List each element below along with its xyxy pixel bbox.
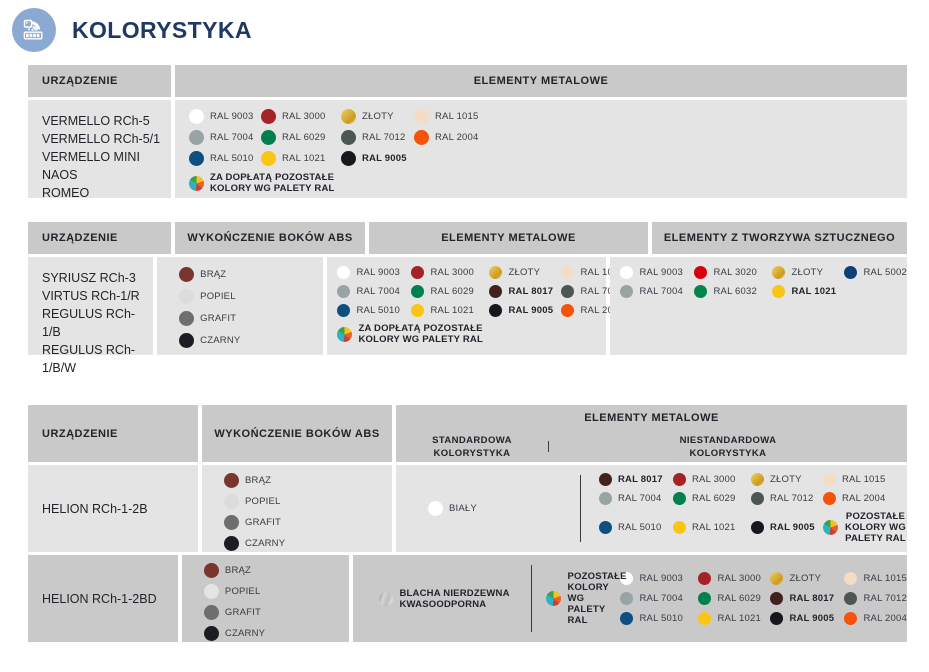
td-plastic-swatches: RAL 9003 RAL 3020 ZŁOTY RAL 5002 RAL 700… (610, 257, 907, 355)
swatch-ral-1021: RAL 1021 (261, 151, 341, 166)
swatch-czarny: CZARNY (179, 333, 323, 348)
swatch-label: CZARNY (225, 628, 265, 639)
td-metal-swatches: RAL 9003 RAL 3000 ZŁOTY RAL 1015 RAL 700… (175, 100, 907, 198)
swatch-dot (189, 109, 204, 124)
swatch-dot (204, 584, 219, 599)
swatch-dot (561, 266, 574, 279)
swatch-zloty: ZŁOTY (489, 266, 561, 279)
th-subheaders: STANDARDOWA KOLORYSTYKA NIESTANDARDOWA K… (396, 431, 907, 462)
swatch-dot (770, 592, 783, 605)
swatch-label: RAL 7012 (770, 493, 814, 504)
swatch-label: POZOSTAŁE KOLORY WG PALETY RAL (844, 511, 907, 544)
th-device-label: URZĄDZENIE (42, 428, 118, 440)
swatch-zloty: ZŁOTY (341, 109, 414, 124)
swatch-dot (673, 521, 686, 534)
device-item: ROMEO (42, 184, 171, 202)
swatch-czarny: CZARNY (224, 536, 392, 551)
swatch-label: RAL 8017 (789, 593, 834, 604)
swatch-label: GRAFIT (200, 313, 236, 324)
swatch-dot (341, 130, 356, 145)
swatch-label-line2: KOLORY WG PALETY RAL (210, 183, 335, 194)
device-item: VERMELLO RCh-5/1 (42, 130, 171, 148)
swatch-ral-1021: RAL 1021 (772, 285, 844, 298)
swatch-ral-8017: RAL 8017 (770, 592, 844, 605)
swatch-label: RAL 7004 (639, 286, 683, 297)
stainless-steel-swatch-icon (379, 592, 393, 606)
device-item: VERMELLO RCh-5 (42, 112, 171, 130)
swatch-ral-6029: RAL 6029 (673, 492, 751, 505)
table-3-header-row: URZĄDZENIE WYKOŃCZENIE BOKÓW ABS ELEMENT… (28, 405, 907, 462)
table-2-header-row: URZĄDZENIE WYKOŃCZENIE BOKÓW ABS ELEMENT… (28, 222, 907, 254)
swatch-label: RAL 1015 (435, 111, 479, 122)
th-metal-elements-label: ELEMENTY METALOWE (474, 75, 609, 87)
td-device: HELION RCh-1-2B (28, 465, 198, 552)
swatch-remaining-ral-palette: POZOSTAŁE KOLORY WG PALETY RAL (546, 571, 620, 626)
swatch-zloty: ZŁOTY (770, 572, 844, 585)
swatch-dot (411, 304, 424, 317)
swatch-dot (673, 473, 686, 486)
swatch-label: ZŁOTY (770, 474, 802, 485)
swatch-label-line2: KOLORY WG PALETY RAL (358, 334, 483, 345)
table-2-syriusz: URZĄDZENIE WYKOŃCZENIE BOKÓW ABS ELEMENT… (28, 222, 907, 355)
swatch-dot (599, 492, 612, 505)
swatch-dot (337, 285, 350, 298)
swatch-dot (620, 592, 633, 605)
swatch-ral-1015: RAL 1015 (823, 473, 907, 486)
page-title: KOLORYSTYKA (72, 17, 252, 44)
table-3-helion: URZĄDZENIE WYKOŃCZENIE BOKÓW ABS ELEMENT… (28, 405, 907, 642)
swatch-label: RAL 1021 (791, 286, 836, 297)
td-abs-swatches: BRĄZ POPIEL GRAFIT CZARNY (157, 257, 323, 355)
ral-palette-icon (337, 327, 352, 342)
swatch-label-line2: KOLORY WG PALETY RAL (845, 522, 906, 544)
swatch-label: RAL 5010 (356, 305, 400, 316)
swatch-label: RAL 1021 (717, 613, 761, 624)
td-metal-swatches: RAL 9003 RAL 3000 ZŁOTY RAL 1015 RAL 700… (327, 257, 606, 355)
swatch-label: RAL 7004 (210, 132, 254, 143)
swatch-ral-5010: RAL 5010 (620, 612, 698, 625)
swatch-ral-9003: RAL 9003 (189, 109, 261, 124)
th-metal-elements: ELEMENTY METALOWE (369, 222, 648, 254)
swatch-dot (844, 266, 857, 279)
swatch-dot (224, 536, 239, 551)
td-device-list: VERMELLO RCh-5 VERMELLO RCh-5/1 VERMELLO… (28, 100, 171, 198)
swatch-label: POPIEL (225, 586, 261, 597)
swatch-dot (844, 592, 857, 605)
swatch-ral-3000: RAL 3000 (698, 572, 770, 585)
swatch-label: ZŁOTY (508, 267, 540, 278)
swatch-zloty: ZŁOTY (751, 473, 823, 486)
nonstandard-color-cell: RAL 9003 RAL 3000 ZŁOTY RAL 1015 (532, 555, 907, 642)
swatch-extra-ral-palette: ZA DOPŁATĄ POZOSTAŁE KOLORY WG PALETY RA… (337, 323, 489, 345)
swatch-dot (823, 473, 836, 486)
swatch-ral-7004: RAL 7004 (620, 285, 694, 298)
swatch-label: RAL 9005 (770, 522, 815, 533)
abs-swatch-list-3a: BRĄZ POPIEL GRAFIT CZARNY (202, 465, 392, 561)
swatch-blacha-nierdzewna: BLACHA NIERDZEWNA KWASOODPORNA (379, 588, 509, 610)
swatch-dot (751, 492, 764, 505)
swatch-label: RAL 3000 (430, 267, 474, 278)
swatch-dot (261, 109, 276, 124)
th-metal-elements: ELEMENTY METALOWE STANDARDOWA KOLORYSTYK… (396, 405, 907, 462)
swatch-dot (844, 572, 857, 585)
ral-palette-icon (823, 520, 838, 535)
swatch-ral-6029: RAL 6029 (261, 130, 341, 145)
swatch-dot (341, 151, 356, 166)
th-metal-title: ELEMENTY METALOWE (396, 405, 907, 431)
swatch-label: RAL 6029 (282, 132, 326, 143)
ral-palette-icon (189, 176, 204, 191)
swatch-dot (698, 612, 711, 625)
swatch-ral-9003: RAL 9003 (620, 266, 694, 279)
device-item: VERMELLO MINI (42, 148, 171, 166)
swatch-dot (411, 285, 424, 298)
swatch-label: RAL 6029 (692, 493, 736, 504)
swatch-label-line2: KOLORY WG (567, 582, 608, 604)
swatch-ral-8017: RAL 8017 (599, 473, 673, 486)
swatch-dot (694, 266, 707, 279)
swatch-grid-nonstandard-3b: RAL 9003 RAL 3000 ZŁOTY RAL 1015 (532, 571, 907, 626)
swatch-dot (599, 521, 612, 534)
swatch-dot (189, 130, 204, 145)
swatch-braz: BRĄZ (224, 473, 392, 488)
swatch-label: ZŁOTY (362, 111, 394, 122)
swatch-dot (224, 515, 239, 530)
th-abs-finish: WYKOŃCZENIE BOKÓW ABS (202, 405, 392, 462)
swatch-label: RAL 5002 (863, 267, 907, 278)
swatch-dot (844, 612, 857, 625)
nonstandard-color-cell: RAL 8017 RAL 3000 ZŁOTY RAL 1015 (581, 465, 907, 552)
swatch-label: ZŁOTY (789, 573, 821, 584)
swatch-label: BLACHA NIERDZEWNA KWASOODPORNA (399, 588, 509, 610)
th-device: URZĄDZENIE (28, 65, 171, 97)
swatch-label: RAL 9003 (210, 111, 254, 122)
label-line1: STANDARDOWA (432, 435, 512, 446)
device-name: HELION RCh-1-2BD (28, 555, 178, 642)
table-1-body-row: VERMELLO RCh-5 VERMELLO RCh-5/1 VERMELLO… (28, 100, 907, 198)
swatch-label: RAL 3000 (717, 573, 761, 584)
swatch-dot (489, 304, 502, 317)
swatch-dot (620, 612, 633, 625)
swatch-label: RAL 6032 (713, 286, 757, 297)
swatch-label: RAL 8017 (618, 474, 663, 485)
swatch-dot (337, 266, 350, 279)
th-device-label: URZĄDZENIE (42, 75, 118, 87)
swatch-dot (204, 563, 219, 578)
swatch-label: RAL 5010 (639, 613, 683, 624)
swatch-bialy: BIAŁY (428, 501, 477, 516)
th-metal-stack: ELEMENTY METALOWE STANDARDOWA KOLORYSTYK… (396, 405, 907, 462)
swatch-grafit: GRAFIT (224, 515, 392, 530)
swatch-ral-7004: RAL 7004 (337, 285, 411, 298)
device-list-2: SYRIUSZ RCh-3 VIRTUS RCh-1/R REGULUS RCh… (28, 257, 153, 389)
swatch-ral-5010: RAL 5010 (599, 511, 673, 544)
device-item: NAOS (42, 166, 171, 184)
swatch-dot (204, 626, 219, 641)
swatch-label: GRAFIT (245, 517, 281, 528)
swatch-label-line3: PALETY RAL (567, 604, 605, 626)
swatch-dot (341, 109, 356, 124)
abs-swatch-list-2: BRĄZ POPIEL GRAFIT CZARNY (157, 257, 323, 358)
swatch-label: RAL 9003 (356, 267, 400, 278)
swatch-ral-1021: RAL 1021 (698, 612, 770, 625)
table-2-body-row: SYRIUSZ RCh-3 VIRTUS RCh-1/R REGULUS RCh… (28, 257, 907, 355)
swatch-dot (620, 285, 633, 298)
swatch-ral-1021: RAL 1021 (411, 304, 489, 317)
device-item: REGULUS RCh-1/B (42, 305, 153, 341)
td-abs-swatches: BRĄZ POPIEL GRAFIT CZARNY (202, 465, 392, 552)
swatch-label: RAL 6029 (717, 593, 761, 604)
swatch-ral-5010: RAL 5010 (189, 151, 261, 166)
swatch-label: RAL 3020 (713, 267, 757, 278)
th-metal-elements: ELEMENTY METALOWE (175, 65, 907, 97)
swatch-label: RAL 1021 (692, 522, 736, 533)
swatch-braz: BRĄZ (204, 563, 350, 578)
device-item: REGULUS RCh-1/B/W (42, 341, 153, 377)
label-line1: NIESTANDARDOWA (680, 435, 777, 446)
swatch-ral-1015: RAL 1015 (844, 572, 907, 585)
swatch-label: RAL 7004 (356, 286, 400, 297)
swatch-label: BRĄZ (200, 269, 226, 280)
swatch-label: RAL 7012 (863, 593, 907, 604)
swatch-braz: BRĄZ (179, 267, 323, 282)
swatch-dot (772, 266, 785, 279)
td-device: HELION RCh-1-2BD (28, 555, 178, 642)
swatch-dot (414, 109, 429, 124)
th-nonstandard-colors-label: NIESTANDARDOWA KOLORYSTYKA (680, 434, 777, 460)
swatch-zloty: ZŁOTY (772, 266, 844, 279)
label-line2: KOLORYSTYKA (690, 448, 767, 459)
swatch-dot (204, 605, 219, 620)
swatch-czarny: CZARNY (204, 626, 350, 641)
swatch-label: BRĄZ (225, 565, 251, 576)
swatch-label: RAL 1015 (863, 573, 907, 584)
swatch-dot (337, 304, 350, 317)
swatch-ral-7012: RAL 7012 (751, 492, 823, 505)
swatch-dot (179, 333, 194, 348)
swatch-ral-7012: RAL 7012 (341, 130, 414, 145)
swatch-label: RAL 9003 (639, 573, 683, 584)
th-standard-colors-label: STANDARDOWA KOLORYSTYKA (432, 434, 512, 460)
swatch-dot (414, 130, 429, 145)
swatch-dot (489, 266, 502, 279)
swatch-label: BRĄZ (245, 475, 271, 486)
swatch-ral-1015: RAL 1015 (414, 109, 504, 124)
swatch-dot (620, 266, 633, 279)
standard-color-cell: BIAŁY (396, 465, 580, 552)
swatch-ral-6032: RAL 6032 (694, 285, 772, 298)
swatch-dot (751, 473, 764, 486)
swatch-label: RAL 1015 (842, 474, 886, 485)
swatch-label: GRAFIT (225, 607, 261, 618)
swatch-label: ZA DOPŁATĄ POZOSTAŁE KOLORY WG PALETY RA… (358, 323, 483, 345)
swatch-ral-5010: RAL 5010 (337, 304, 411, 317)
swatch-ral-9005: RAL 9005 (489, 304, 561, 317)
swatch-popiel: POPIEL (204, 584, 350, 599)
swatch-dot (770, 612, 783, 625)
split-standard-nonstandard: BIAŁY RAL 8017 RAL 3000 (396, 465, 907, 552)
swatch-grafit: GRAFIT (179, 311, 323, 326)
swatch-remaining-ral-palette: POZOSTAŁE KOLORY WG PALETY RAL (823, 511, 907, 544)
swatch-label-line1: ZA DOPŁATĄ POZOSTAŁE (210, 172, 334, 183)
swatch-label: CZARNY (245, 538, 285, 549)
swatch-label: RAL 1021 (430, 305, 474, 316)
swatch-dot (770, 572, 783, 585)
swatch-dot (772, 285, 785, 298)
label-line2: KOLORYSTYKA (434, 448, 511, 459)
swatch-dot (179, 289, 194, 304)
swatch-dot (261, 130, 276, 145)
table-3-row-helion-2b: HELION RCh-1-2B BRĄZ POPIEL GRAFIT C (28, 465, 907, 552)
swatch-label: RAL 7012 (362, 132, 406, 143)
swatch-extra-ral-palette: ZA DOPŁATĄ POZOSTAŁE KOLORY WG PALETY RA… (189, 172, 341, 194)
td-abs-swatches: BRĄZ POPIEL GRAFIT CZARNY (182, 555, 350, 642)
th-plastic-elements-label: ELEMENTY Z TWORZYWA SZTUCZNEGO (664, 232, 895, 244)
swatch-ral-2004: RAL 2004 (823, 492, 907, 505)
swatch-label: RAL 2004 (863, 613, 907, 624)
th-metal-elements-label: ELEMENTY METALOWE (441, 232, 576, 244)
swatch-label: ZŁOTY (791, 267, 823, 278)
swatch-ral-7012: RAL 7012 (844, 592, 907, 605)
th-abs-finish-label: WYKOŃCZENIE BOKÓW ABS (214, 428, 379, 440)
swatch-ral-3000: RAL 3000 (673, 473, 751, 486)
ral-palette-icon (546, 591, 561, 606)
device-item: SYRIUSZ RCh-3 (42, 269, 153, 287)
th-device: URZĄDZENIE (28, 405, 198, 462)
swatch-label: RAL 8017 (508, 286, 553, 297)
swatch-dot (673, 492, 686, 505)
th-device: URZĄDZENIE (28, 222, 171, 254)
device-item: VIRTUS RCh-1/R (42, 287, 153, 305)
td-metal-colors: BIAŁY RAL 8017 RAL 3000 (396, 465, 907, 552)
swatch-grid-plastic-2: RAL 9003 RAL 3020 ZŁOTY RAL 5002 RAL 700… (610, 257, 907, 308)
color-palette-fan-icon (12, 8, 56, 52)
swatch-dot (179, 311, 194, 326)
swatch-label: RAL 6029 (430, 286, 474, 297)
device-list-1: VERMELLO RCh-5 VERMELLO RCh-5/1 VERMELLO… (28, 100, 171, 214)
swatch-dot (489, 285, 502, 298)
swatch-grid-metal-2: RAL 9003 RAL 3000 ZŁOTY RAL 1015 RAL 700… (327, 257, 606, 355)
swatch-dot (561, 304, 574, 317)
swatch-ral-9005: RAL 9005 (341, 151, 414, 166)
swatch-label: RAL 5010 (618, 522, 662, 533)
swatch-label: RAL 9005 (508, 305, 553, 316)
swatch-ral-7004: RAL 7004 (620, 592, 698, 605)
table-1-header-row: URZĄDZENIE ELEMENTY METALOWE (28, 65, 907, 97)
swatch-ral-6029: RAL 6029 (698, 592, 770, 605)
swatch-dot (411, 266, 424, 279)
swatch-grid-metal-1: RAL 9003 RAL 3000 ZŁOTY RAL 1015 RAL 700… (175, 100, 907, 204)
swatch-dot (751, 521, 764, 534)
swatch-label: BIAŁY (449, 503, 477, 514)
swatch-dot (698, 592, 711, 605)
swatch-ral-3020: RAL 3020 (694, 266, 772, 279)
th-abs-finish-label: WYKOŃCZENIE BOKÓW ABS (187, 232, 352, 244)
th-abs-finish: WYKOŃCZENIE BOKÓW ABS (175, 222, 365, 254)
swatch-label: POPIEL (245, 496, 281, 507)
swatch-label: CZARNY (200, 335, 240, 346)
swatch-ral-8017: RAL 8017 (489, 285, 561, 298)
swatch-dot (823, 492, 836, 505)
swatch-popiel: POPIEL (224, 494, 392, 509)
swatch-ral-9005: RAL 9005 (751, 511, 823, 544)
swatch-label: RAL 9005 (789, 613, 834, 624)
table-3-row-helion-2bd: HELION RCh-1-2BD BRĄZ POPIEL GRAFIT (28, 555, 907, 642)
page-header: KOLORYSTYKA (0, 0, 929, 52)
swatch-label: RAL 2004 (842, 493, 886, 504)
th-nonstandard-colors: NIESTANDARDOWA KOLORYSTYKA (549, 431, 907, 462)
swatch-label: RAL 7004 (639, 593, 683, 604)
swatch-ral-2004: RAL 2004 (844, 612, 907, 625)
swatch-ral-3000: RAL 3000 (411, 266, 489, 279)
swatch-label-line1: BLACHA NIERDZEWNA (399, 588, 509, 599)
swatch-dot (261, 151, 276, 166)
swatch-label-line1: ZA DOPŁATĄ POZOSTAŁE (358, 323, 482, 334)
swatch-label: RAL 9005 (362, 153, 407, 164)
swatch-ral-1021: RAL 1021 (673, 511, 751, 544)
swatch-dot (698, 572, 711, 585)
swatch-ral-9003: RAL 9003 (620, 572, 698, 585)
swatch-ral-5002: RAL 5002 (844, 266, 907, 279)
swatch-dot (224, 473, 239, 488)
swatch-label: POPIEL (200, 291, 236, 302)
device-name: HELION RCh-1-2B (28, 465, 198, 552)
swatch-dot (599, 473, 612, 486)
swatch-ral-6029: RAL 6029 (411, 285, 489, 298)
swatch-label: RAL 1021 (282, 153, 326, 164)
swatch-label: RAL 3000 (282, 111, 326, 122)
swatch-grid-spacer (414, 151, 504, 166)
swatch-ral-3000: RAL 3000 (261, 109, 341, 124)
swatch-label: ZA DOPŁATĄ POZOSTAŁE KOLORY WG PALETY RA… (210, 172, 335, 194)
standard-color-cell: BLACHA NIERDZEWNA KWASOODPORNA (353, 555, 531, 642)
swatch-label: RAL 2004 (435, 132, 479, 143)
th-device-label: URZĄDZENIE (42, 232, 118, 244)
swatch-ral-9005: RAL 9005 (770, 612, 844, 625)
swatch-label-line2: KWASOODPORNA (399, 599, 486, 610)
swatch-ral-7004: RAL 7004 (189, 130, 261, 145)
swatch-label: RAL 7004 (618, 493, 662, 504)
swatch-dot (224, 494, 239, 509)
swatch-label: POZOSTAŁE KOLORY WG PALETY RAL (567, 571, 626, 626)
abs-swatch-list-3b: BRĄZ POPIEL GRAFIT CZARNY (182, 555, 350, 651)
swatch-label: RAL 9003 (639, 267, 683, 278)
swatch-label-line1: POZOSTAŁE (567, 571, 626, 582)
swatch-dot (189, 151, 204, 166)
swatch-dot (428, 501, 443, 516)
table-1-vermello: URZĄDZENIE ELEMENTY METALOWE VERMELLO RC… (28, 65, 907, 198)
th-metal-elements-label: ELEMENTY METALOWE (584, 412, 719, 424)
swatch-label: RAL 3000 (692, 474, 736, 485)
swatch-popiel: POPIEL (179, 289, 323, 304)
td-metal-colors: BLACHA NIERDZEWNA KWASOODPORNA RAL 9003 (353, 555, 907, 642)
swatch-dot (561, 285, 574, 298)
swatch-ral-7004: RAL 7004 (599, 492, 673, 505)
swatch-grafit: GRAFIT (204, 605, 350, 620)
swatch-label: RAL 5010 (210, 153, 254, 164)
th-plastic-elements: ELEMENTY Z TWORZYWA SZTUCZNEGO (652, 222, 907, 254)
swatch-grid-nonstandard-3a: RAL 8017 RAL 3000 ZŁOTY RAL 1015 (581, 473, 907, 544)
td-device-list: SYRIUSZ RCh-3 VIRTUS RCh-1/R REGULUS RCh… (28, 257, 153, 355)
swatch-dot (694, 285, 707, 298)
swatch-ral-9003: RAL 9003 (337, 266, 411, 279)
split-standard-nonstandard: BLACHA NIERDZEWNA KWASOODPORNA RAL 9003 (353, 555, 907, 642)
swatch-ral-2004: RAL 2004 (414, 130, 504, 145)
swatch-label-line1: POZOSTAŁE (846, 511, 905, 522)
swatch-dot (179, 267, 194, 282)
th-standard-colors: STANDARDOWA KOLORYSTYKA (396, 431, 548, 462)
